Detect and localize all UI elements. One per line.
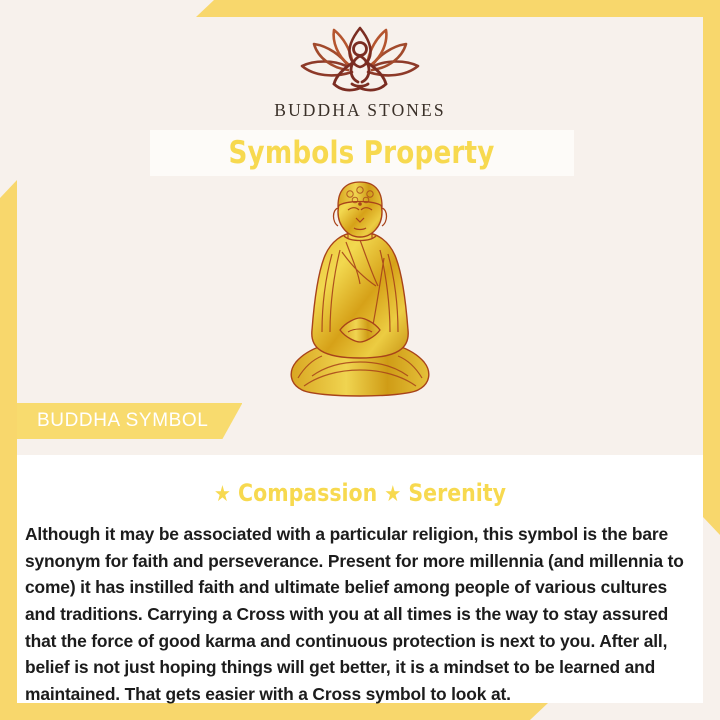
golden-seated-buddha-statue-icon	[260, 180, 460, 412]
content-subtitle: ★ Compassion ★ Serenity	[34, 479, 686, 507]
lotus-meditation-icon	[294, 22, 426, 94]
symbol-ribbon-label: BUDDHA SYMBOL	[37, 410, 208, 432]
hero-image	[17, 180, 703, 412]
page-title: Symbols Property	[229, 135, 495, 171]
title-banner: Symbols Property	[150, 130, 574, 176]
symbol-ribbon: BUDDHA SYMBOL	[17, 403, 242, 439]
poster-canvas: BUDDHA STONES Symbols Property	[17, 17, 703, 703]
subtitle-word-serenity: Serenity	[408, 479, 506, 507]
star-icon-2: ★	[384, 482, 401, 507]
star-icon-1: ★	[214, 482, 231, 507]
decorative-frame-top	[196, 0, 720, 17]
brand-logo: BUDDHA STONES	[17, 22, 703, 121]
content-paragraph: Although it may be associated with a par…	[25, 521, 693, 707]
brand-name: BUDDHA STONES	[17, 100, 703, 121]
subtitle-word-compassion: Compassion	[238, 479, 377, 507]
content-panel: ★ Compassion ★ Serenity Although it may …	[17, 455, 703, 703]
decorative-frame-left	[0, 180, 17, 720]
poster-root: BUDDHA STONES Symbols Property	[0, 0, 720, 720]
decorative-frame-right	[703, 0, 720, 535]
